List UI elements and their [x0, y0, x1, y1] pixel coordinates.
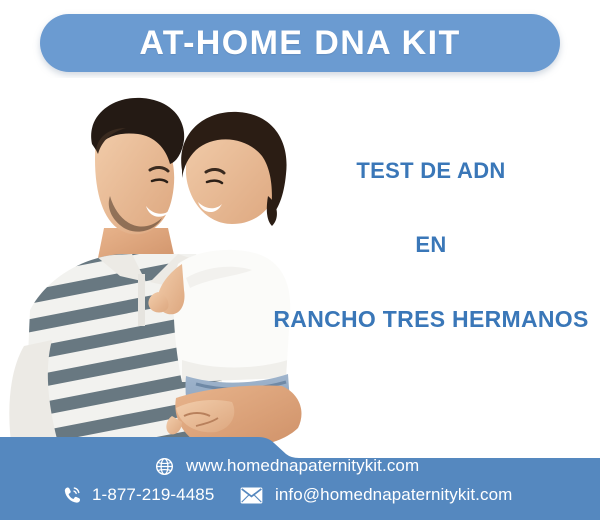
headline-line-3: RANCHO TRES HERMANOS [262, 306, 600, 333]
banner-pill: AT-HOME DNA KIT [40, 14, 560, 72]
footer-content: www.homednapaternitykit.com 1-877-219-44… [0, 430, 600, 520]
banner-title: AT-HOME DNA KIT [139, 24, 460, 63]
footer-website[interactable]: www.homednapaternitykit.com [155, 456, 419, 476]
envelope-icon [240, 487, 263, 504]
footer-bar: www.homednapaternitykit.com 1-877-219-44… [0, 430, 600, 520]
phone-text: 1-877-219-4485 [92, 485, 214, 505]
headline-line-1: TEST DE ADN [262, 158, 600, 184]
poster: AT-HOME DNA KIT [0, 0, 600, 520]
phone-icon [62, 485, 82, 505]
headline-block: TEST DE ADN EN RANCHO TRES HERMANOS [262, 158, 600, 333]
email-text: info@homednapaternitykit.com [275, 485, 512, 505]
footer-phone[interactable]: 1-877-219-4485 [62, 485, 214, 505]
website-text: www.homednapaternitykit.com [186, 456, 419, 476]
footer-email[interactable]: info@homednapaternitykit.com [240, 485, 512, 505]
headline-line-2: EN [262, 232, 600, 258]
globe-icon [155, 457, 174, 476]
